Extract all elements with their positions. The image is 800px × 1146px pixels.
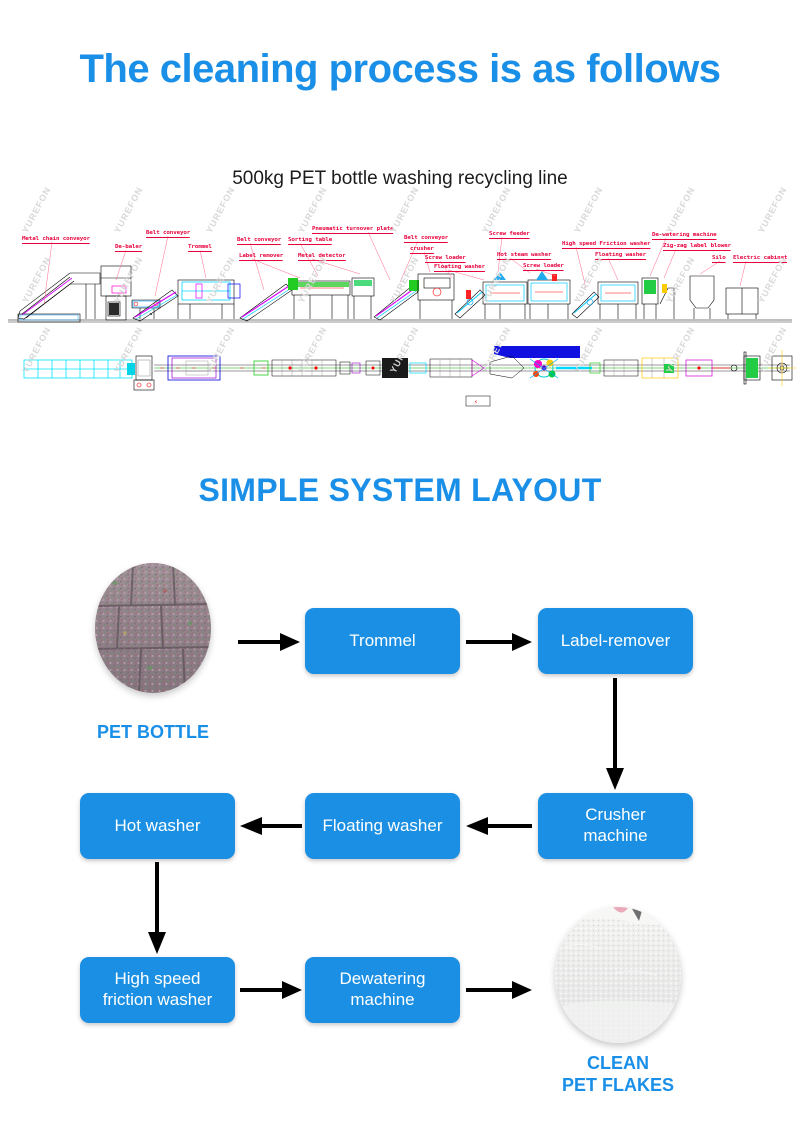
pet-flakes-image (555, 907, 681, 1043)
arrow-bottle-to-trommel (238, 628, 300, 656)
pet-bottle-image (95, 563, 211, 693)
flow-node-friction-washer[interactable]: High speed friction washer (80, 957, 235, 1023)
flow-node-hot-washer[interactable]: Hot washer (80, 793, 235, 859)
flow-node-floating-washer[interactable]: Floating washer (305, 793, 460, 859)
flow-node-label-remover[interactable]: Label-remover (538, 608, 693, 674)
arrow-label-remover-to-crusher (601, 678, 629, 790)
arrow-floating-washer-to-hot-washer (240, 812, 302, 840)
arrow-crusher-to-floating-washer (466, 812, 532, 840)
pet-bottle-photo (95, 563, 211, 693)
arrow-friction-washer-to-dewatering (240, 976, 302, 1004)
arrow-trommel-to-label-remover (466, 628, 532, 656)
flow-node-dewatering[interactable]: Dewatering machine (305, 957, 460, 1023)
flow-node-trommel[interactable]: Trommel (305, 608, 460, 674)
arrow-dewatering-to-flakes (466, 976, 532, 1004)
process-flowchart: TrommelLabel-removerCrusher machineFloat… (0, 0, 800, 1146)
arrow-hot-washer-to-friction-washer (143, 862, 171, 954)
pet-flakes-photo (555, 907, 681, 1043)
pet-flakes-caption: CLEAN PET FLAKES (538, 1053, 698, 1097)
pet-bottle-caption: PET BOTTLE (73, 722, 233, 744)
flow-node-crusher[interactable]: Crusher machine (538, 793, 693, 859)
